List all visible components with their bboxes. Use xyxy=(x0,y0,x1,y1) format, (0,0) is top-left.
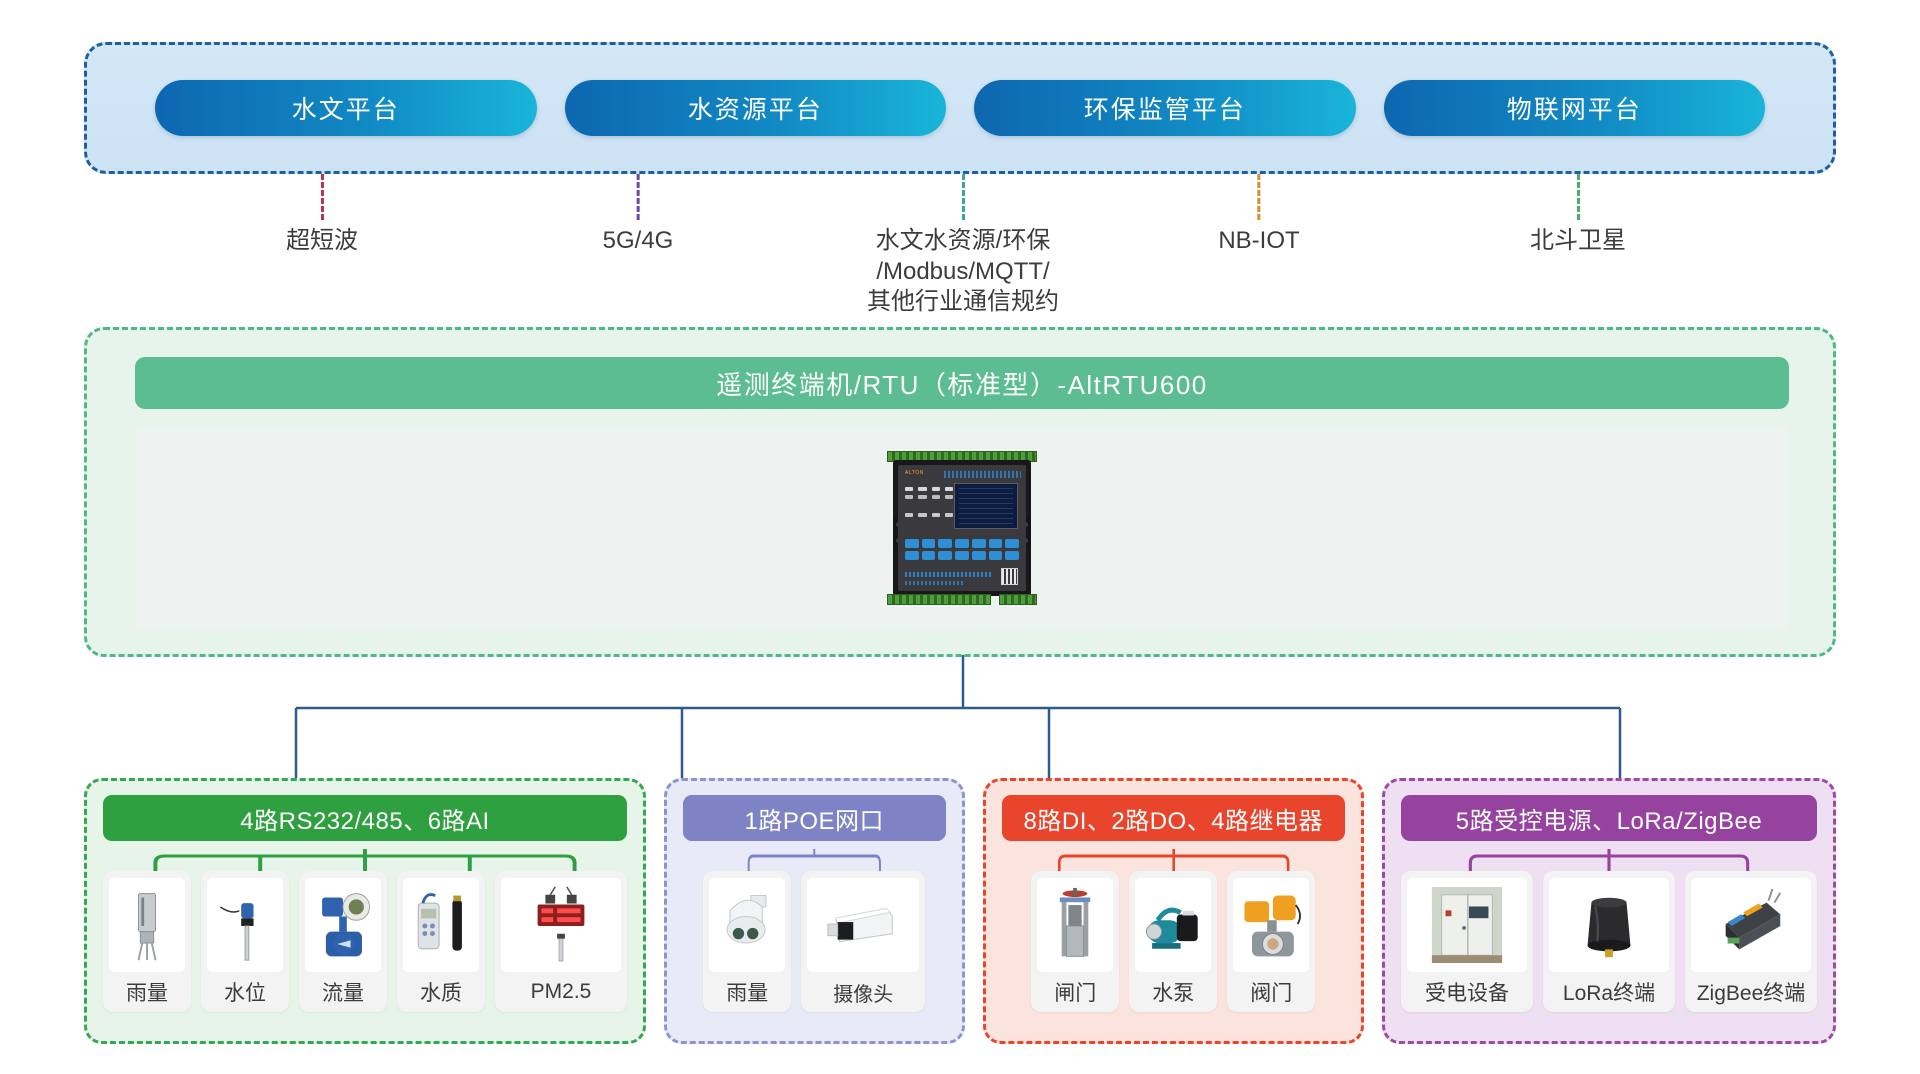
device-card[interactable]: 阀门 xyxy=(1227,871,1315,1012)
device-card-list: 受电设备LoRa终端ZigBee终端 xyxy=(1401,871,1817,1012)
device-card[interactable]: ZigBee终端 xyxy=(1685,871,1817,1012)
status-led-row-2 xyxy=(905,513,953,517)
device-card-label: 水泵 xyxy=(1152,972,1194,1012)
protocol-label: 5G/4G xyxy=(603,226,674,257)
brand-mark: ALTON xyxy=(905,470,924,476)
device-card[interactable]: 闸门 xyxy=(1031,871,1119,1012)
protocol-label: 水文水资源/环保 /Modbus/MQTT/ 其他行业通信规约 xyxy=(867,226,1059,318)
protocol-link-1: 超短波 xyxy=(286,174,358,257)
device-card-label: 水位 xyxy=(224,972,266,1012)
box-camera-icon xyxy=(807,878,919,972)
protocol-label: 超短波 xyxy=(286,226,358,257)
protocol-link-4: NB-IOT xyxy=(1218,174,1299,257)
platform-chip-1[interactable]: 水文平台 xyxy=(155,80,537,136)
rain-gauge-icon xyxy=(109,878,185,972)
protocol-link-layer: 超短波5G/4G水文水资源/环保 /Modbus/MQTT/ 其他行业通信规约N… xyxy=(0,174,1920,324)
lcd-screen xyxy=(954,483,1018,529)
device-card-label: 阀门 xyxy=(1250,972,1292,1012)
platform-chip-3[interactable]: 环保监管平台 xyxy=(974,80,1356,136)
power-cabinet-icon xyxy=(1407,878,1527,972)
altrtu600-device-icon: ALTON xyxy=(883,451,1041,605)
sluice-gate-icon xyxy=(1037,878,1113,972)
status-led-row-1 xyxy=(905,487,953,499)
panel-text-line-1 xyxy=(905,572,991,577)
protocol-link-5: 北斗卫星 xyxy=(1530,174,1626,257)
device-card[interactable]: 水泵 xyxy=(1129,871,1217,1012)
protocol-dashed-connector xyxy=(1257,174,1260,220)
pm25-station-icon xyxy=(501,878,621,972)
protocol-dashed-connector xyxy=(1577,174,1580,220)
device-card-list: 雨量水位流量水质PM2.5 xyxy=(103,871,627,1012)
device-card[interactable]: 流量 xyxy=(299,871,387,1012)
terminal-block-bottom-right xyxy=(999,594,1037,605)
device-card-label: 摄像头 xyxy=(833,972,893,1012)
group-title-poe[interactable]: 1路POE网口 xyxy=(683,795,946,841)
device-card-label: 受电设备 xyxy=(1425,972,1509,1012)
protocol-label: NB-IOT xyxy=(1218,226,1299,257)
rtu-chassis: ALTON xyxy=(893,460,1031,596)
interface-group-poe: 1路POE网口雨量摄像头 xyxy=(664,778,965,1044)
device-card[interactable]: 雨量 xyxy=(103,871,191,1012)
dome-camera-icon xyxy=(709,878,785,972)
rtu-device-stage: ALTON xyxy=(135,426,1789,630)
rtu-front-panel: ALTON xyxy=(898,465,1026,591)
platform-chip-row: 水文平台水资源平台环保监管平台物联网平台 xyxy=(87,45,1833,171)
keypad xyxy=(905,539,1019,560)
device-card-label: PM2.5 xyxy=(531,972,592,1012)
rtu-title: 遥测终端机/RTU（标准型）-AltRTU600 xyxy=(135,357,1789,409)
terminal-block-bottom-left xyxy=(887,594,991,605)
group-title-serial-ai[interactable]: 4路RS232/485、6路AI xyxy=(103,795,627,841)
platform-chip-2[interactable]: 水资源平台 xyxy=(565,80,947,136)
platform-layer: 水文平台水资源平台环保监管平台物联网平台 xyxy=(84,42,1836,174)
device-card[interactable]: 受电设备 xyxy=(1401,871,1533,1012)
device-card[interactable]: PM2.5 xyxy=(495,871,627,1012)
device-card-label: ZigBee终端 xyxy=(1697,972,1806,1012)
interface-group-row: 4路RS232/485、6路AI雨量水位流量水质PM2.51路POE网口雨量摄像… xyxy=(84,778,1836,1044)
group-bracket-connector xyxy=(1401,849,1817,871)
group-title-power-lora-zigbee[interactable]: 5路受控电源、LoRa/ZigBee xyxy=(1401,795,1817,841)
qr-code-icon xyxy=(1001,568,1018,585)
interface-group-power-lora-zigbee: 5路受控电源、LoRa/ZigBee受电设备LoRa终端ZigBee终端 xyxy=(1382,778,1836,1044)
device-card-label: 水质 xyxy=(420,972,462,1012)
flow-meter-icon xyxy=(305,878,381,972)
protocol-link-2: 5G/4G xyxy=(603,174,674,257)
device-card-list: 闸门水泵阀门 xyxy=(1002,871,1345,1012)
device-card[interactable]: LoRa终端 xyxy=(1543,871,1675,1012)
group-bracket-connector xyxy=(683,849,946,871)
platform-chip-4[interactable]: 物联网平台 xyxy=(1384,80,1766,136)
protocol-dashed-connector xyxy=(321,174,324,220)
device-card[interactable]: 水位 xyxy=(201,871,289,1012)
device-card-label: LoRa终端 xyxy=(1563,972,1655,1012)
zigbee-terminal-icon xyxy=(1691,878,1811,972)
tree-connector-svg xyxy=(0,655,1920,785)
device-card[interactable]: 水质 xyxy=(397,871,485,1012)
device-card-list: 雨量摄像头 xyxy=(683,871,946,1012)
water-pump-icon xyxy=(1135,878,1211,972)
diagram-canvas: 水文平台水资源平台环保监管平台物联网平台 超短波5G/4G水文水资源/环保 /M… xyxy=(0,0,1920,1074)
protocol-dashed-connector xyxy=(962,174,965,220)
interface-group-di-do-relay: 8路DI、2路DO、4路继电器闸门水泵阀门 xyxy=(983,778,1364,1044)
protocol-label: 北斗卫星 xyxy=(1530,226,1626,257)
water-quality-probe-icon xyxy=(403,878,479,972)
water-level-sensor-icon xyxy=(207,878,283,972)
interface-group-serial-ai: 4路RS232/485、6路AI雨量水位流量水质PM2.5 xyxy=(84,778,646,1044)
group-title-di-do-relay[interactable]: 8路DI、2路DO、4路继电器 xyxy=(1002,795,1345,841)
panel-text-line-2 xyxy=(905,581,965,585)
group-bracket-connector xyxy=(1002,849,1345,871)
model-silkscreen xyxy=(944,471,1021,478)
tree-connector-layer xyxy=(0,655,1920,785)
actuated-valve-icon xyxy=(1233,878,1309,972)
rtu-panel: 遥测终端机/RTU（标准型）-AltRTU600 ALTON xyxy=(84,327,1836,657)
device-card-label: 流量 xyxy=(322,972,364,1012)
device-card-label: 闸门 xyxy=(1054,972,1096,1012)
device-card[interactable]: 摄像头 xyxy=(801,871,925,1012)
group-bracket-connector xyxy=(103,849,627,871)
device-card[interactable]: 雨量 xyxy=(703,871,791,1012)
protocol-link-3: 水文水资源/环保 /Modbus/MQTT/ 其他行业通信规约 xyxy=(867,174,1059,318)
protocol-dashed-connector xyxy=(636,174,639,220)
device-card-label: 雨量 xyxy=(126,972,168,1012)
lora-terminal-icon xyxy=(1549,878,1669,972)
device-card-label: 雨量 xyxy=(726,972,768,1012)
